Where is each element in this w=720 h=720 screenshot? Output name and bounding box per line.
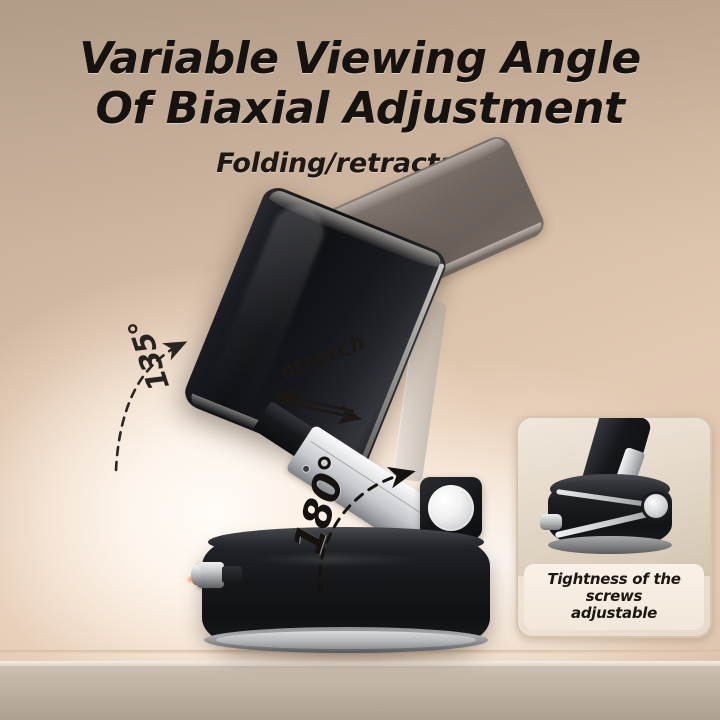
inset-base-rim — [548, 536, 672, 554]
product-marketing-image: Variable Viewing Angle Of Biaxial Adjust… — [0, 0, 720, 720]
inset-caption-line-1: Tightness of the screws — [547, 570, 680, 605]
inset-adjustment-knob — [540, 514, 562, 530]
inset-caption-line-2: adjustable — [528, 605, 700, 622]
detail-inset-panel: Tightness of the screws adjustable — [516, 416, 712, 638]
inset-photo — [518, 418, 710, 576]
inset-hinge-screw — [644, 494, 668, 518]
inset-caption: Tightness of the screws adjustable — [524, 564, 704, 630]
